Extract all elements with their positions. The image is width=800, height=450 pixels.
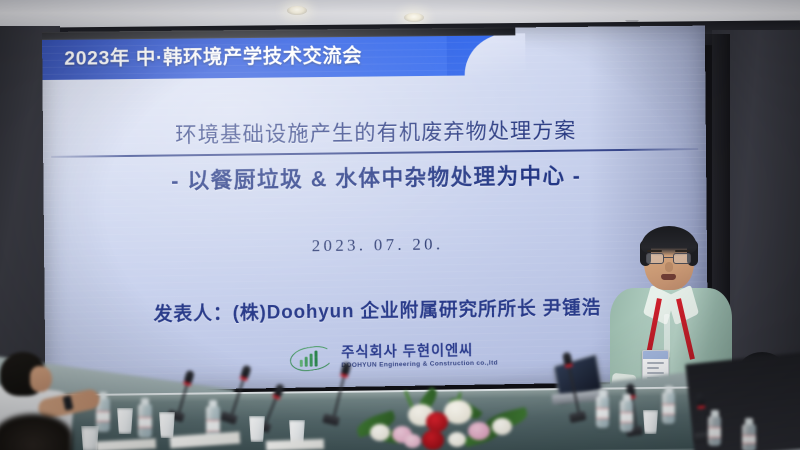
downlight-icon <box>404 13 424 22</box>
downlight-icon <box>287 6 307 15</box>
slide-header-ribbon-curve <box>447 33 516 75</box>
bar-chart-swoosh-icon <box>290 345 334 372</box>
water-bottle <box>708 416 721 446</box>
company-logo: 주식회사 두현이엔씨 DOOHYUN Engineering & Constru… <box>290 343 498 372</box>
water-bottle <box>138 404 152 438</box>
slide-ribbon-text: 2023年 中·韩环境产学技术交流会 <box>64 39 362 71</box>
paper-cup <box>642 410 659 434</box>
photo-scene: 2023年 中·韩环境产学技术交流会 环境基础设施产生的有机废弃物处理方案 - … <box>0 0 800 450</box>
water-bottle <box>742 424 756 450</box>
paper-cup <box>116 408 134 434</box>
water-bottle <box>596 396 609 428</box>
paper-cup <box>158 412 176 438</box>
water-bottle <box>662 392 675 424</box>
flower-centerpiece <box>352 382 530 450</box>
logo-english-name: DOOHYUN Engineering & Construction co.,l… <box>341 360 498 369</box>
slide-subtitle: - 以餐厨垃圾 & 水体中杂物处理为中心 - <box>43 157 706 197</box>
slide-title: 环境基础设施产生的有机废弃物处理方案 <box>43 112 706 151</box>
water-bottle <box>620 400 633 432</box>
paper-cup <box>248 416 266 442</box>
document-sheet <box>266 439 324 450</box>
logo-korean-name: 주식회사 두현이엔씨 <box>341 344 498 362</box>
